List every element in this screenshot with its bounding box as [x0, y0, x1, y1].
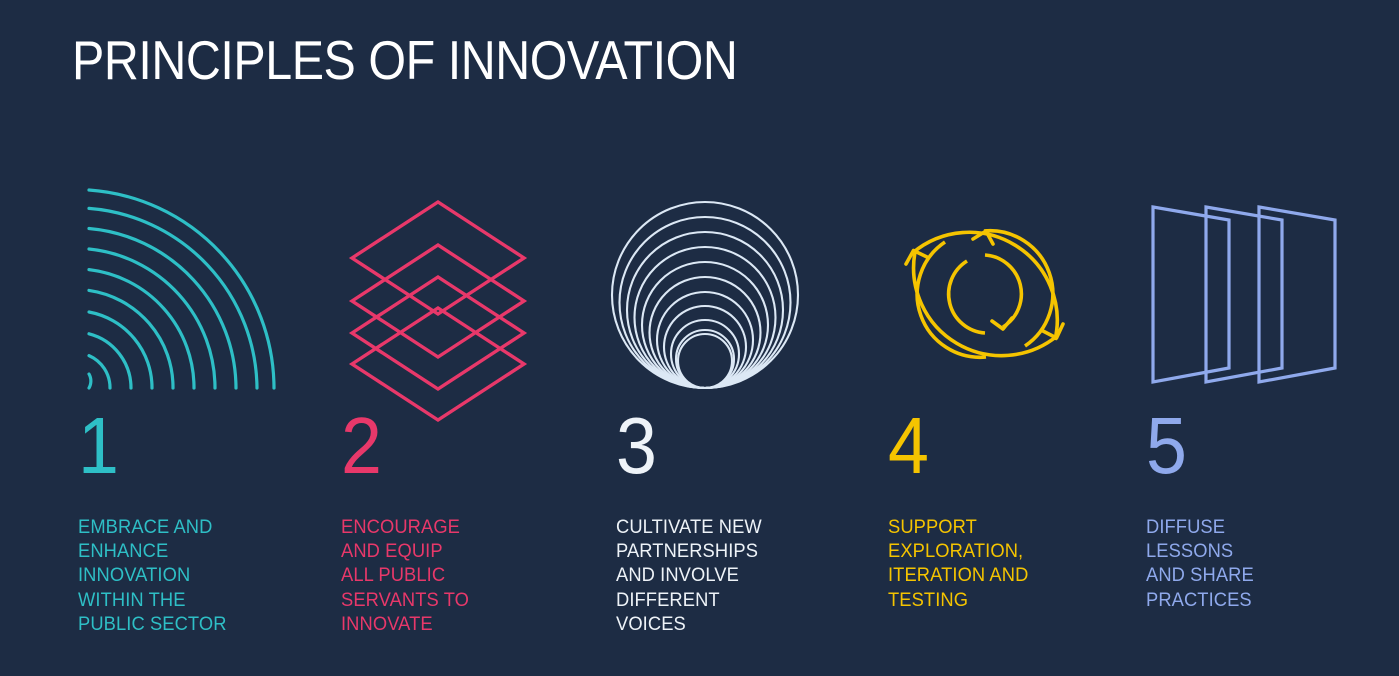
- principle-number-2: 2: [341, 406, 382, 486]
- principle-column-2: 2 ENCOURAGE AND EQUIP ALL PUBLIC SERVANT…: [325, 0, 587, 676]
- principle-number-1: 1: [78, 406, 119, 486]
- principle-text-3: CULTIVATE NEW PARTNERSHIPS AND INVOLVE D…: [616, 515, 832, 636]
- principle-number-5: 5: [1146, 406, 1187, 486]
- principle-number-3: 3: [616, 406, 657, 486]
- slide-canvas: PRINCIPLES OF INNOVATION: [0, 0, 1399, 676]
- principle-text-1: EMBRACE AND ENHANCE INNOVATION WITHIN TH…: [78, 515, 294, 636]
- principle-column-5: 5 DIFFUSE LESSONS AND SHARE PRACTICES: [1130, 0, 1392, 676]
- principle-text-4: SUPPORT EXPLORATION, ITERATION AND TESTI…: [888, 515, 1104, 612]
- principles-row: 1 EMBRACE AND ENHANCE INNOVATION WITHIN …: [0, 0, 1399, 676]
- principle-text-5: DIFFUSE LESSONS AND SHARE PRACTICES: [1146, 515, 1362, 612]
- principle-number-4: 4: [888, 406, 929, 486]
- nested-circles-icon: [613, 196, 813, 392]
- principle-column-4: 4 SUPPORT EXPLORATION, ITERATION AND TES…: [872, 0, 1134, 676]
- principle-text-2: ENCOURAGE AND EQUIP ALL PUBLIC SERVANTS …: [341, 515, 557, 636]
- stacked-panels-icon: [1143, 196, 1343, 392]
- radiating-arcs-icon: [75, 196, 275, 392]
- principle-column-1: 1 EMBRACE AND ENHANCE INNOVATION WITHIN …: [62, 0, 324, 676]
- stacked-layers-icon: [338, 196, 538, 392]
- principle-column-3: 3 CULTIVATE NEW PARTNERSHIPS AND INVOLVE…: [600, 0, 862, 676]
- circular-arrows-icon: [885, 196, 1085, 392]
